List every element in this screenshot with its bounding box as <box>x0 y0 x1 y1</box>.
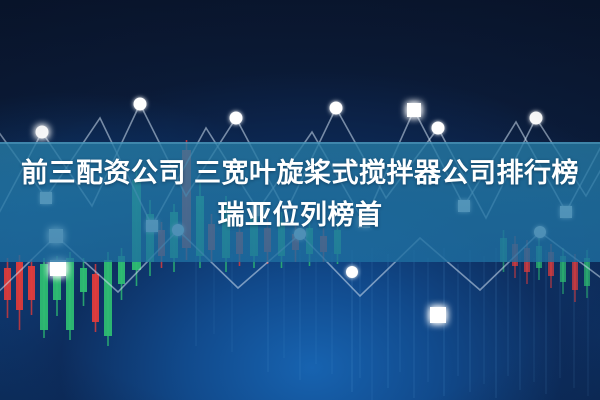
headline-band-top-edge <box>0 142 600 144</box>
banner-image: 前三配资公司 三宽叶旋桨式搅拌器公司排行榜瑞亚位列榜首 <box>0 0 600 400</box>
headline-text: 前三配资公司 三宽叶旋桨式搅拌器公司排行榜瑞亚位列榜首 <box>0 152 600 236</box>
